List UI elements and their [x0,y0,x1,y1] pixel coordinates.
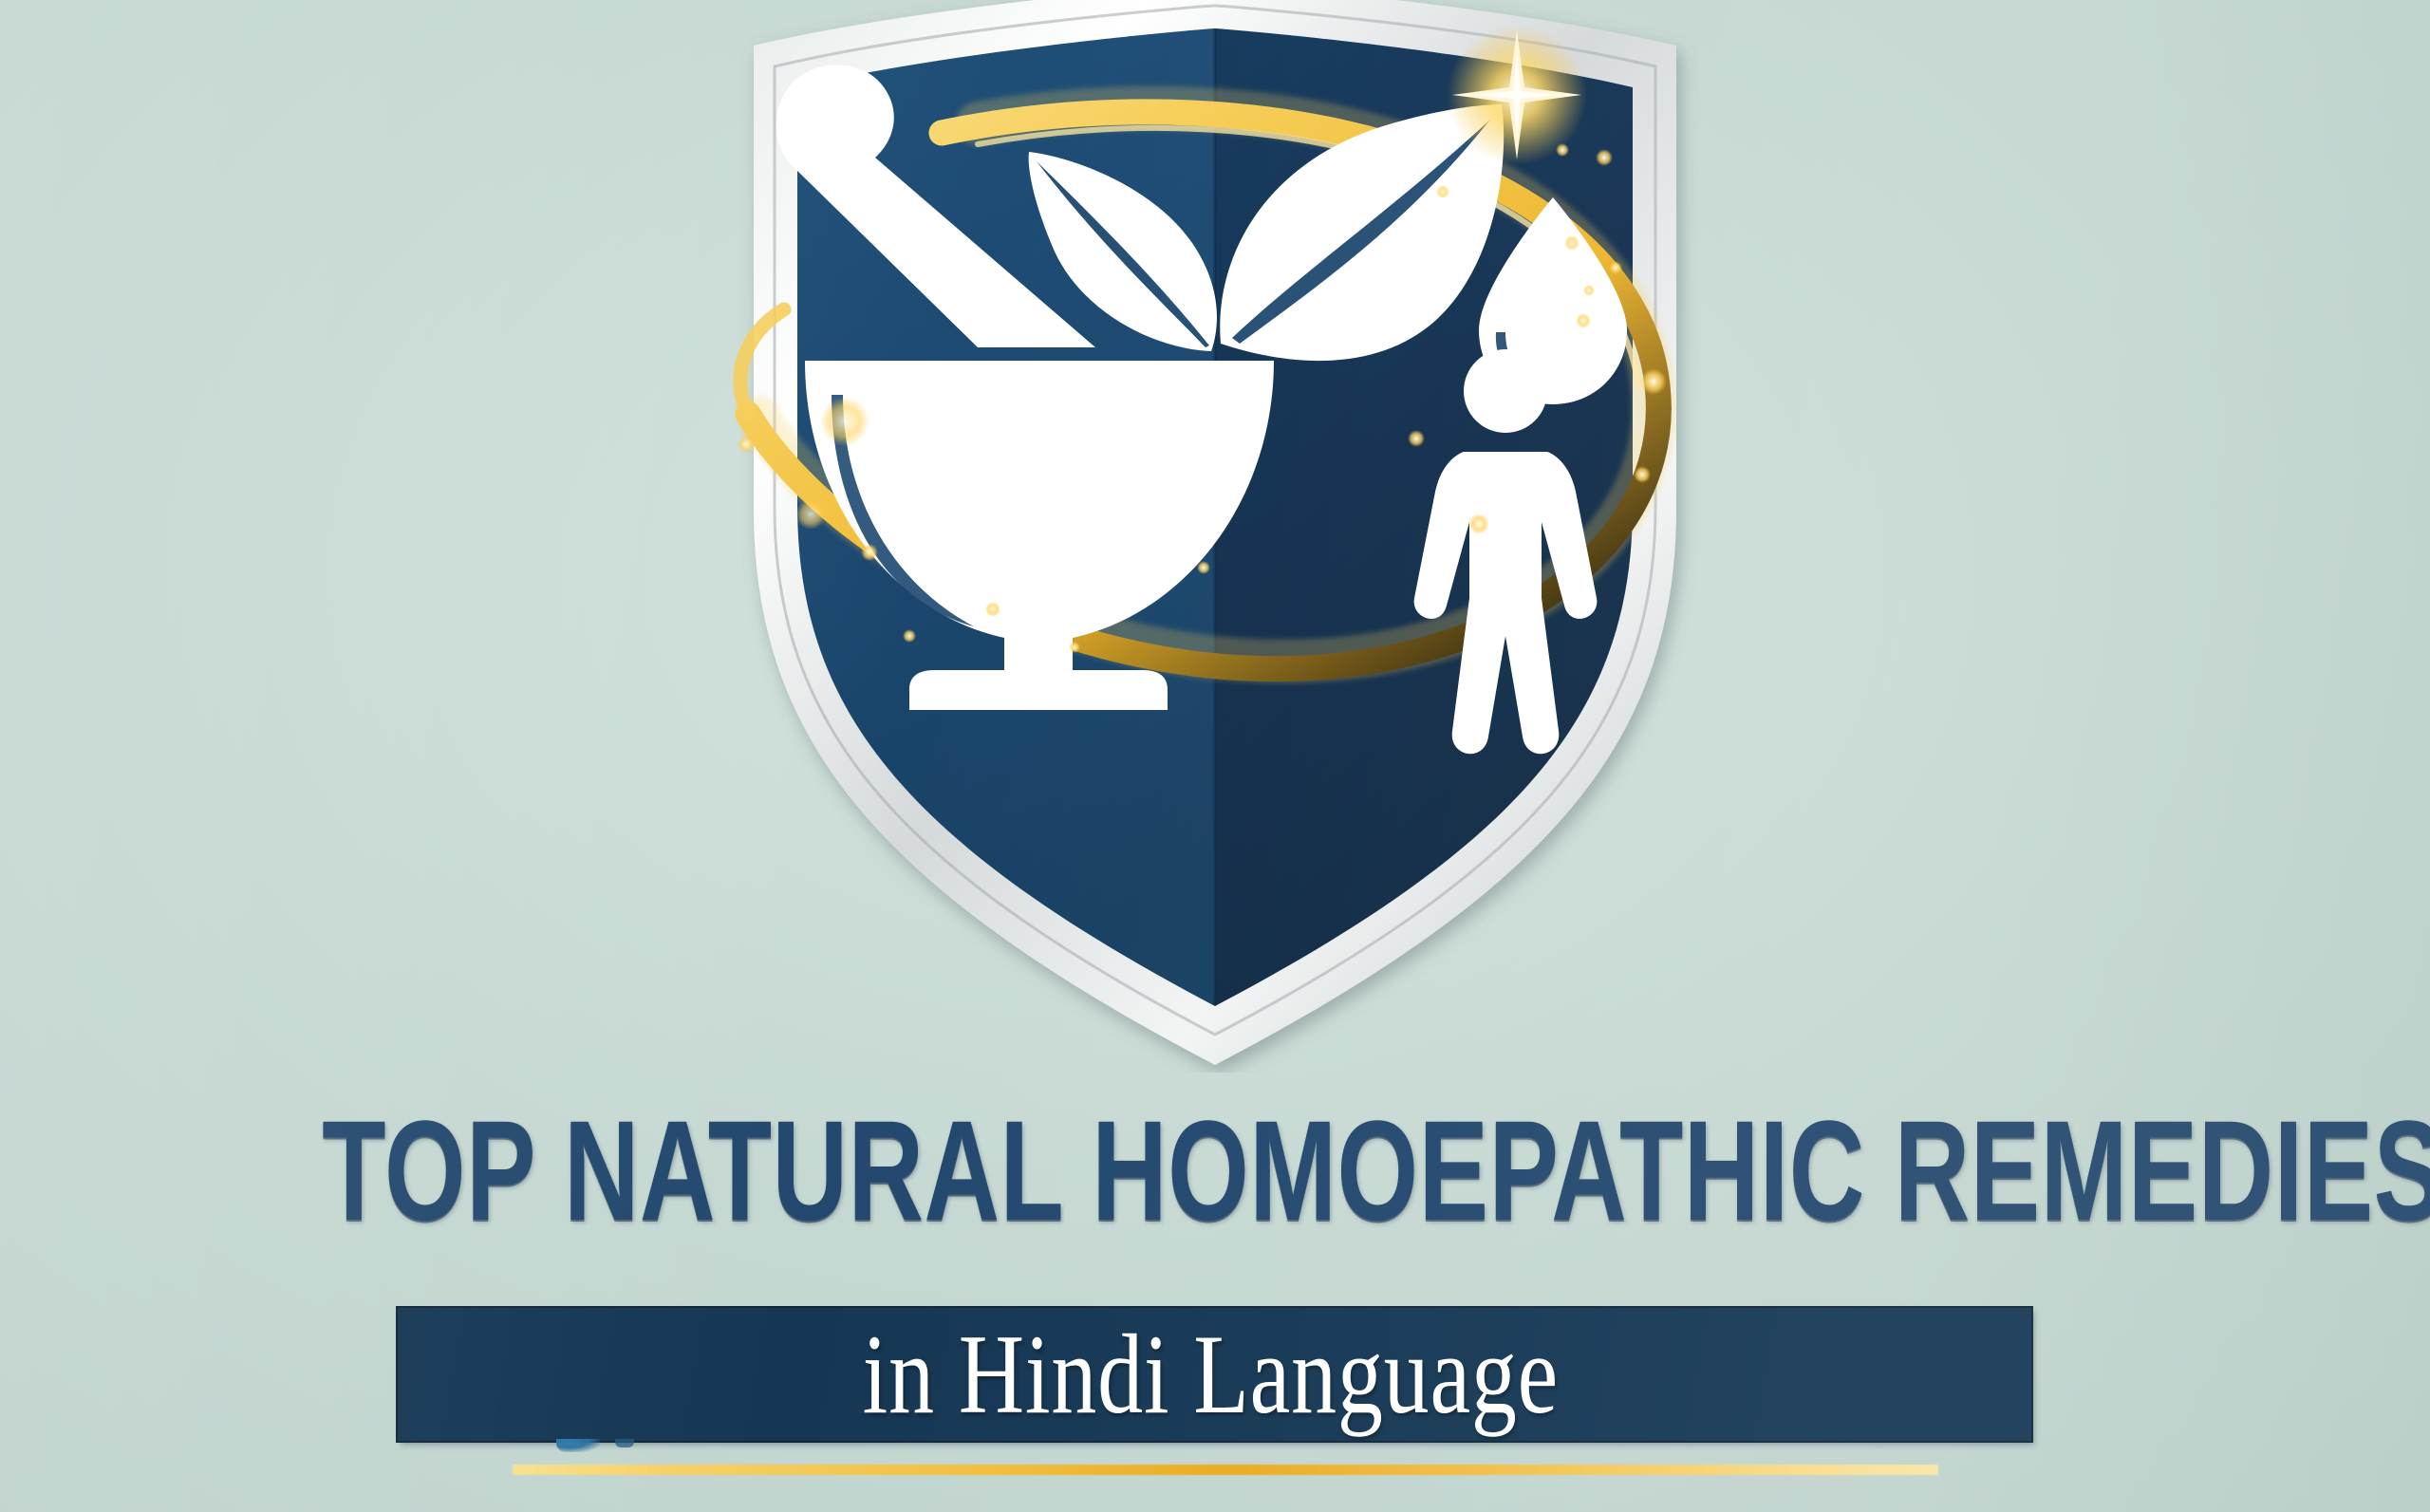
banner-clipped-artifact-secondary [615,1439,634,1447]
gold-rule-divider [513,1465,1938,1475]
page-title: TOP NATURAL HOMOEPATHIC REMEDIES [322,1099,2108,1241]
sparkle-star [1447,25,1587,165]
slide-canvas: TOP NATURAL HOMOEPATHIC REMEDIES in Hind… [0,0,2430,1512]
subtitle-text: in Hindi Language [863,1317,1559,1431]
subtitle-banner: in Hindi Language [398,1308,2031,1441]
homeopathy-shield-logo [693,0,1737,1073]
banner-clipped-artifact [556,1439,600,1452]
